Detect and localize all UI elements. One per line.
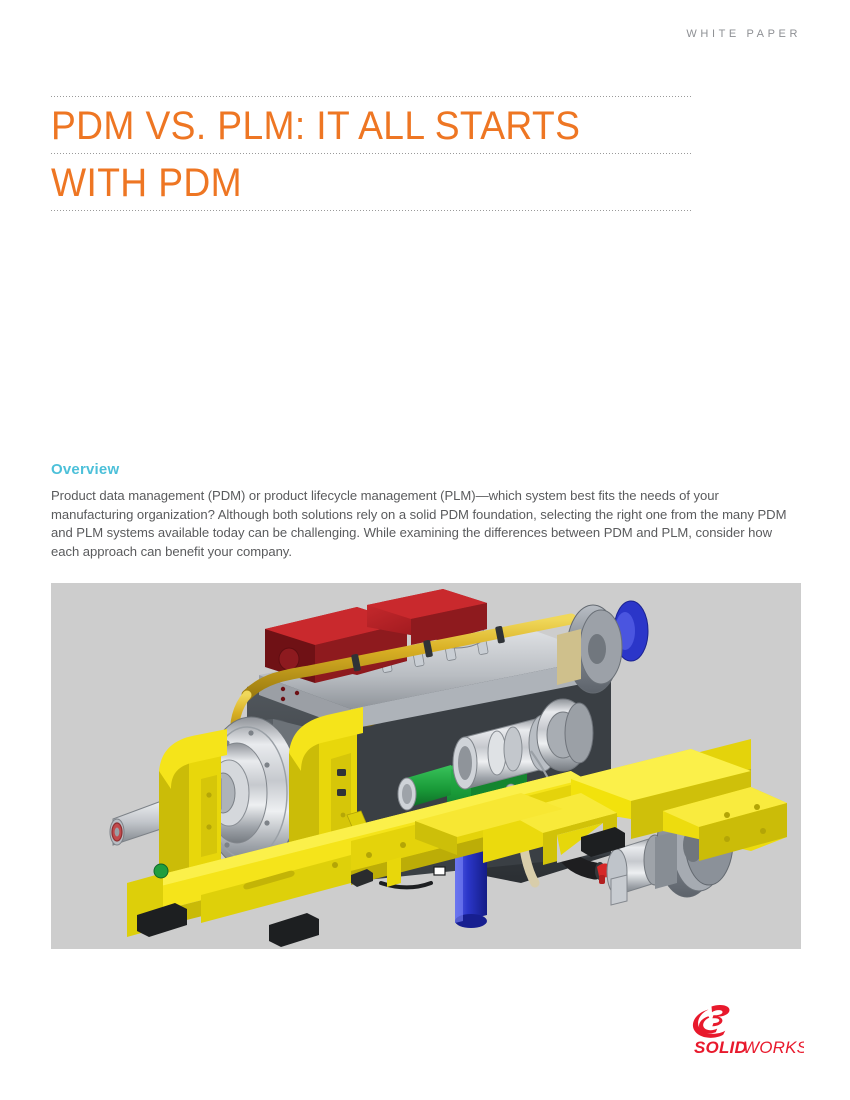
solidworks-logo-svg: SOLID WORKS	[686, 1003, 804, 1063]
document-type-label: WHITE PAPER	[0, 28, 801, 40]
bracket-under-block	[387, 857, 401, 887]
solidworks-wordmark: SOLID WORKS	[694, 1038, 804, 1057]
title-rule-bottom	[51, 210, 693, 211]
page-title-line-2: WITH PDM	[51, 154, 648, 210]
white-paper-page: WHITE PAPER PDM VS. PLM: IT ALL STARTS W…	[0, 0, 850, 1100]
overview-paragraph: Product data management (PDM) or product…	[51, 487, 796, 561]
figure-engine-skid	[51, 583, 801, 949]
cad-detail-marker	[434, 867, 445, 875]
wordmark-solid: SOLID	[694, 1038, 747, 1057]
page-title-line-1: PDM VS. PLM: IT ALL STARTS	[51, 97, 648, 153]
3ds-swoosh-mark	[693, 1005, 730, 1038]
sensor-green-small	[154, 864, 168, 878]
overview-heading: Overview	[51, 461, 119, 478]
wordmark-works: WORKS	[743, 1038, 804, 1057]
solidworks-logo: SOLID WORKS	[686, 1003, 804, 1063]
title-block: PDM VS. PLM: IT ALL STARTS WITH PDM	[51, 96, 693, 211]
engine-skid-illustration	[51, 583, 801, 949]
